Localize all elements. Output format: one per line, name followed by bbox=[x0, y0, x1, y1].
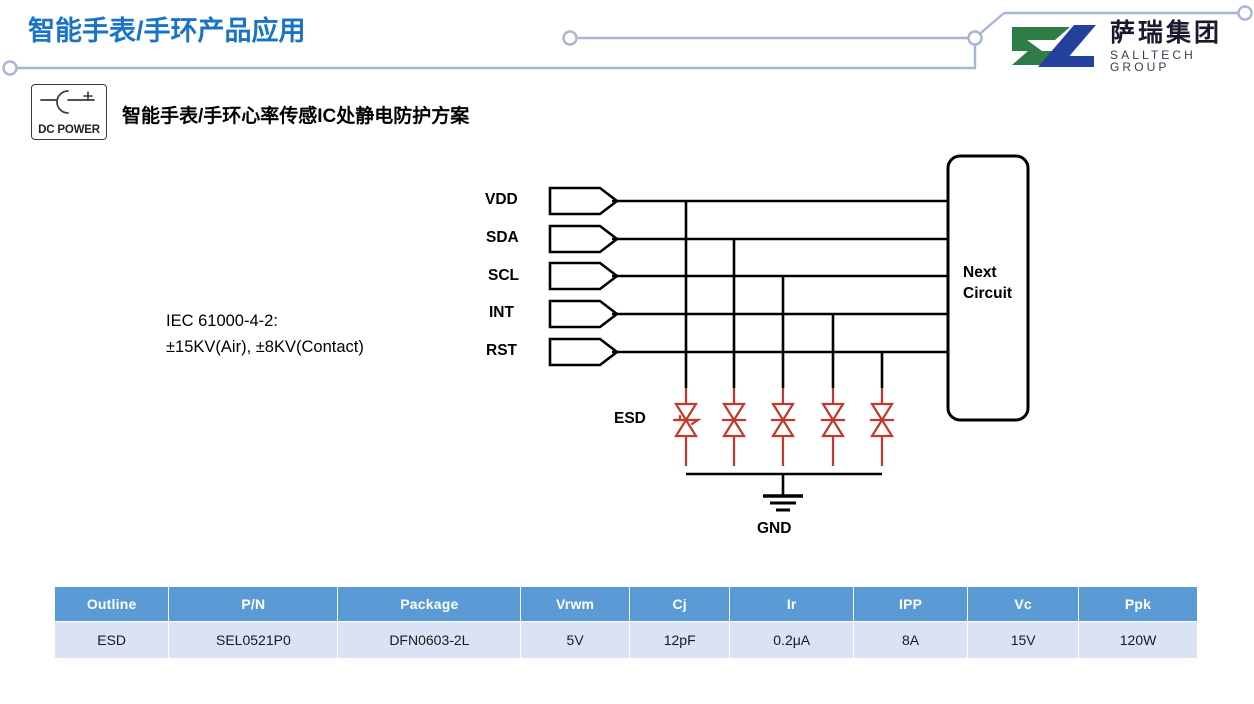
trace-node-mid bbox=[564, 32, 577, 45]
col-header-pn: P/N bbox=[169, 587, 338, 622]
pin-label-vdd: VDD bbox=[485, 191, 518, 209]
pin-connector-sda bbox=[550, 226, 617, 252]
pin-label-sda: SDA bbox=[486, 229, 519, 247]
col-header-outline: Outline bbox=[55, 587, 169, 622]
next-circuit-line1: Next bbox=[963, 263, 1012, 284]
esd-diode-sda bbox=[722, 388, 746, 466]
logo-name-cn: 萨瑞集团 bbox=[1110, 20, 1248, 45]
table-row: ESD SEL0521P0 DFN0603-2L 5V 12pF 0.2μA 8… bbox=[55, 622, 1198, 659]
trace-node-left bbox=[4, 62, 17, 75]
esd-diode-rst bbox=[870, 388, 894, 466]
cell-ppk: 120W bbox=[1079, 622, 1198, 659]
salltech-logo-icon bbox=[1008, 23, 1100, 69]
dc-power-badge: DC POWER bbox=[31, 84, 107, 140]
esd-diode-vdd bbox=[674, 388, 698, 466]
col-header-ppk: Ppk bbox=[1079, 587, 1198, 622]
page-title: 智能手表/手环产品应用 bbox=[28, 9, 306, 48]
esd-diode-scl bbox=[771, 388, 795, 466]
col-header-ir: Ir bbox=[730, 587, 853, 622]
pin-label-rst: RST bbox=[486, 342, 517, 360]
pin-connector-rst bbox=[550, 339, 617, 365]
cell-outline: ESD bbox=[55, 622, 169, 659]
cell-ipp: 8A bbox=[853, 622, 967, 659]
cell-cj: 12pF bbox=[629, 622, 730, 659]
col-header-ipp: IPP bbox=[853, 587, 967, 622]
ground-net bbox=[686, 474, 882, 510]
iec-note-line2: ±15KV(Air), ±8KV(Contact) bbox=[166, 335, 364, 361]
cell-vc: 15V bbox=[968, 622, 1079, 659]
esd-group-label: ESD bbox=[614, 410, 646, 428]
cell-package: DFN0603-2L bbox=[338, 622, 521, 659]
logo-name-en: SALLTECH GROUP bbox=[1110, 49, 1248, 73]
esd-diode-int bbox=[821, 388, 845, 466]
iec-standard-note: IEC 61000-4-2: ±15KV(Air), ±8KV(Contact) bbox=[166, 309, 364, 360]
esd-diode-array bbox=[674, 388, 894, 466]
pin-connector-int bbox=[550, 301, 617, 327]
pin-connector-scl bbox=[550, 263, 617, 289]
pin-connector-vdd bbox=[550, 188, 617, 214]
brand-logo: 萨瑞集团 SALLTECH GROUP bbox=[1008, 18, 1248, 74]
pin-label-int: INT bbox=[489, 304, 514, 322]
col-header-vrwm: Vrwm bbox=[521, 587, 630, 622]
next-circuit-label: Next Circuit bbox=[963, 263, 1012, 305]
specification-table: Outline P/N Package Vrwm Cj Ir IPP Vc Pp… bbox=[54, 586, 1198, 659]
col-header-cj: Cj bbox=[629, 587, 730, 622]
pin-label-scl: SCL bbox=[488, 267, 519, 285]
dc-power-label: DC POWER bbox=[32, 124, 106, 136]
trace-node-junction bbox=[969, 32, 982, 45]
col-header-vc: Vc bbox=[968, 587, 1079, 622]
gnd-label: GND bbox=[757, 520, 791, 538]
cell-vrwm: 5V bbox=[521, 622, 630, 659]
table-header-row: Outline P/N Package Vrwm Cj Ir IPP Vc Pp… bbox=[55, 587, 1198, 622]
cell-pn: SEL0521P0 bbox=[169, 622, 338, 659]
col-header-package: Package bbox=[338, 587, 521, 622]
iec-note-line1: IEC 61000-4-2: bbox=[166, 309, 364, 335]
next-circuit-line2: Circuit bbox=[963, 284, 1012, 305]
section-heading: 智能手表/手环心率传感IC处静电防护方案 bbox=[122, 101, 469, 128]
dc-power-symbol-icon bbox=[32, 85, 106, 123]
cell-ir: 0.2μA bbox=[730, 622, 853, 659]
